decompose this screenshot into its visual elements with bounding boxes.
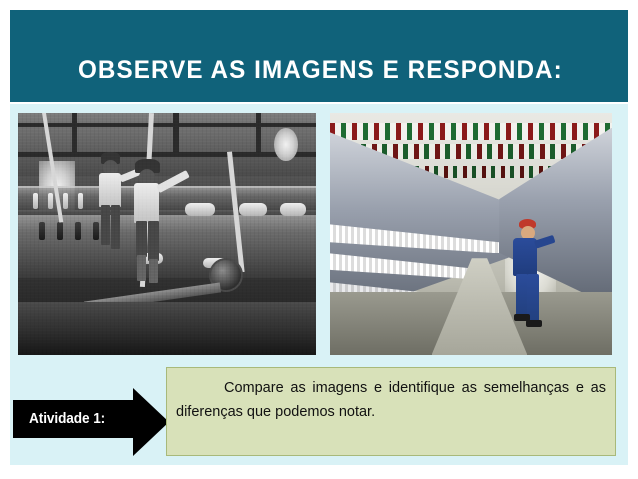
worker-torso (513, 238, 537, 276)
photo-grain-overlay (18, 113, 316, 355)
factory-worker (505, 219, 559, 345)
spool-row-colored (330, 123, 612, 140)
historic-mill-scene (18, 113, 316, 355)
activity-label: Atividade 1: (29, 411, 105, 427)
image-factory-21st-century: 2- Fábrica no século XXI (330, 113, 612, 355)
page-title: OBSERVE AS IMAGENS E RESPONDA: (78, 56, 563, 85)
slide-header-band: OBSERVE AS IMAGENS E RESPONDA: (10, 10, 628, 102)
instruction-text: Compare as imagens e identifique as seme… (176, 376, 606, 424)
worker-arm (534, 235, 555, 249)
slide-root: OBSERVE AS IMAGENS E RESPONDA: (0, 0, 638, 479)
modern-mill-scene (330, 113, 612, 355)
worker-shoe (526, 320, 542, 327)
image-factory-19th-century: 1 - Fábrica no século XIX (18, 113, 316, 355)
instruction-box: Compare as imagens e identifique as seme… (166, 367, 616, 456)
